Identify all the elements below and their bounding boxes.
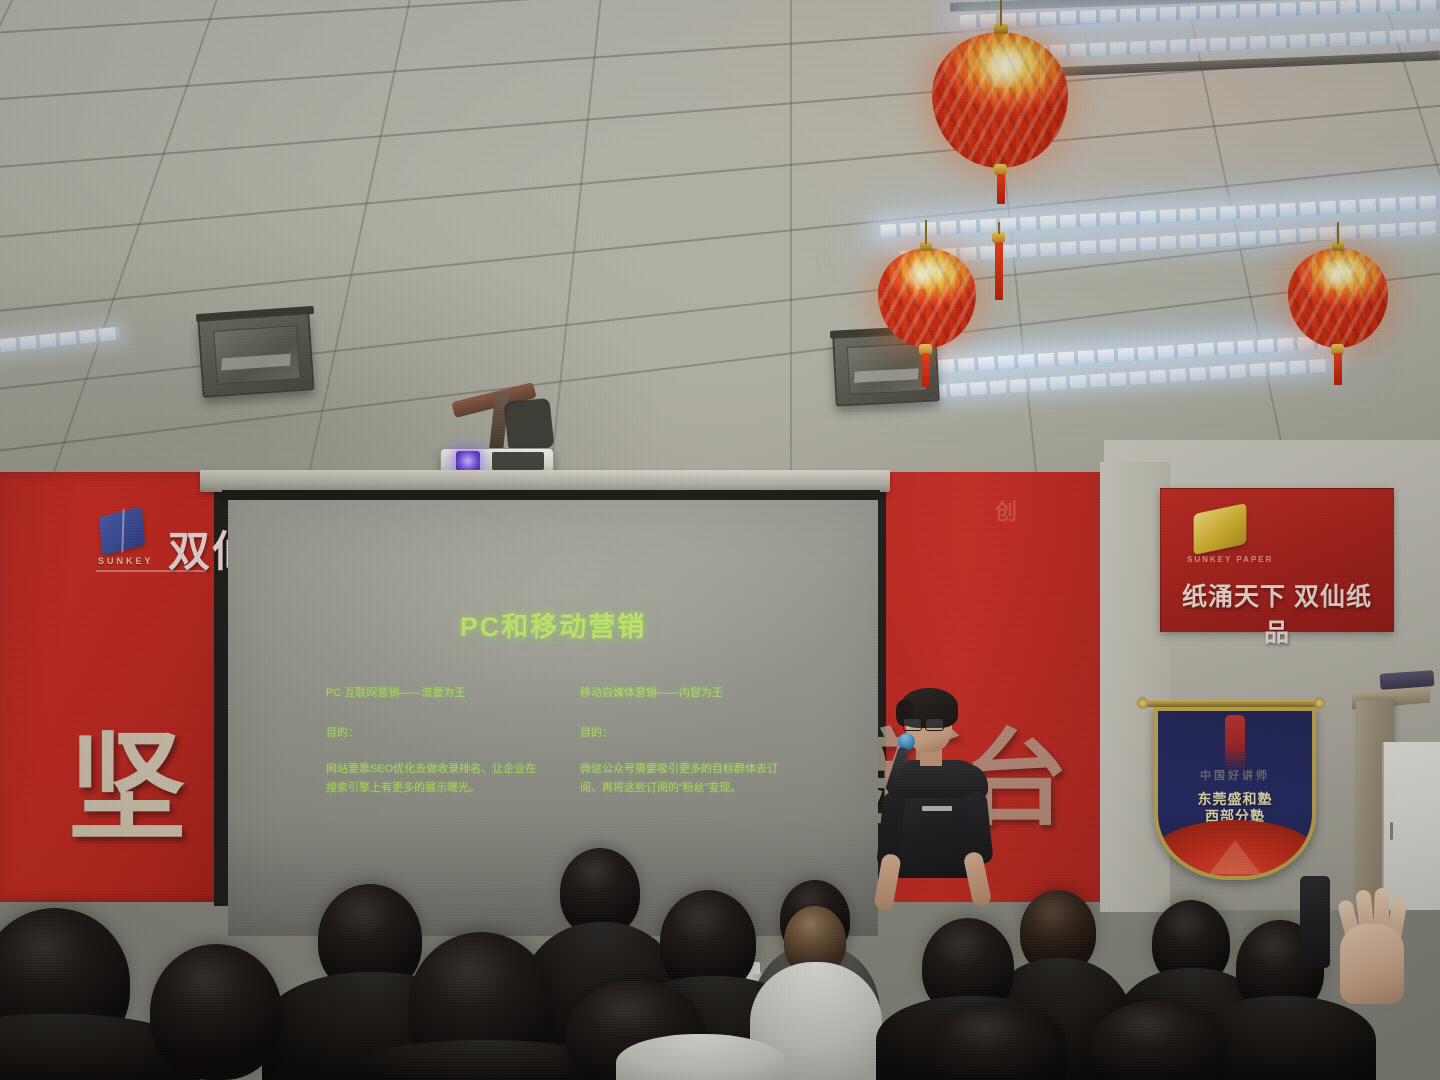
slide-column-right: 移动自媒体营销——内容为王 目的： 微信公众号需要吸引更多的目标群体去订阅、再将…: [580, 680, 785, 798]
sunkey-logo-en: SUNKEY: [98, 556, 154, 566]
raised-hand: [1336, 884, 1410, 1004]
pennant-top-text: 中国好讲师: [1158, 767, 1312, 783]
projector-cable-bundle: [504, 398, 555, 453]
slide-left-aim-label: 目的：: [326, 720, 541, 746]
paper-lantern-right: [1288, 248, 1388, 348]
ceiling: [0, 0, 1440, 500]
palm: [1340, 924, 1404, 1004]
projector-led-indicator: [456, 451, 480, 471]
slide-left-body: 网站要靠SEO优化去做收录排名、让企业在搜索引擎上有更多的展示曝光。: [326, 760, 541, 798]
pennant-body: 中国好讲师 东莞盛和塾 西部分塾: [1154, 707, 1316, 880]
photo-scene: SUNKEY 双仙 坚 坚 创 新台 SUNKEY PAPER 纸涌天下 双仙纸…: [0, 0, 1440, 1080]
slide-right-aim-label: 目的：: [580, 720, 785, 746]
projector-lens-housing: [492, 452, 544, 470]
slide-title: PC和移动营销: [228, 605, 878, 644]
cabinet-handle[interactable]: [1390, 822, 1393, 840]
smartphone: [1300, 876, 1330, 968]
presenter: [876, 688, 1016, 918]
slide-right-body: 微信公众号需要吸引更多的目标群体去订阅、再将这些订阅的“粉丝”变现。: [580, 760, 785, 798]
pennant-mountain-graphic: [1154, 820, 1316, 880]
slide-left-heading: PC 互联网营销——流量为王: [326, 680, 541, 706]
glasses-icon: [903, 718, 947, 730]
pennant-line-1: 东莞盛和塾: [1198, 791, 1273, 807]
ceiling-speaker-left: [197, 312, 314, 398]
audience-head-front-2: [150, 944, 282, 1080]
right-red-banner: SUNKEY PAPER 纸涌天下 双仙纸品: [1160, 488, 1394, 632]
center-wall-vertical-text: 创: [988, 500, 1020, 528]
ceiling-tile-lines-vertical: [0, 0, 1440, 500]
wall-pennant: 中国好讲师 东莞盛和塾 西部分塾: [1148, 700, 1314, 880]
banner-sub-en: SUNKEY PAPER: [1187, 555, 1273, 564]
paper-lantern-large: [932, 32, 1068, 168]
banner-slogan: 纸涌天下 双仙纸品: [1177, 577, 1377, 649]
paper-lantern-mid: [878, 248, 976, 348]
slide-right-heading: 移动自媒体营销——内容为王: [580, 680, 785, 706]
projection-screen: PC和移动营销 PC 互联网营销——流量为王 目的： 网站要靠SEO优化去做收录…: [228, 500, 878, 936]
audience-shoulders-front-white: [616, 1034, 786, 1080]
pennant-rod: [1142, 700, 1320, 707]
pennant-torch-icon: [1225, 715, 1245, 771]
slide-column-left: PC 互联网营销——流量为王 目的： 网站要靠SEO优化去做收录排名、让企业在搜…: [326, 680, 541, 798]
presenter-shirt-logo: [922, 806, 952, 811]
projection-screen-case: [200, 470, 890, 492]
banner-paper-logo-icon: [1194, 503, 1247, 555]
